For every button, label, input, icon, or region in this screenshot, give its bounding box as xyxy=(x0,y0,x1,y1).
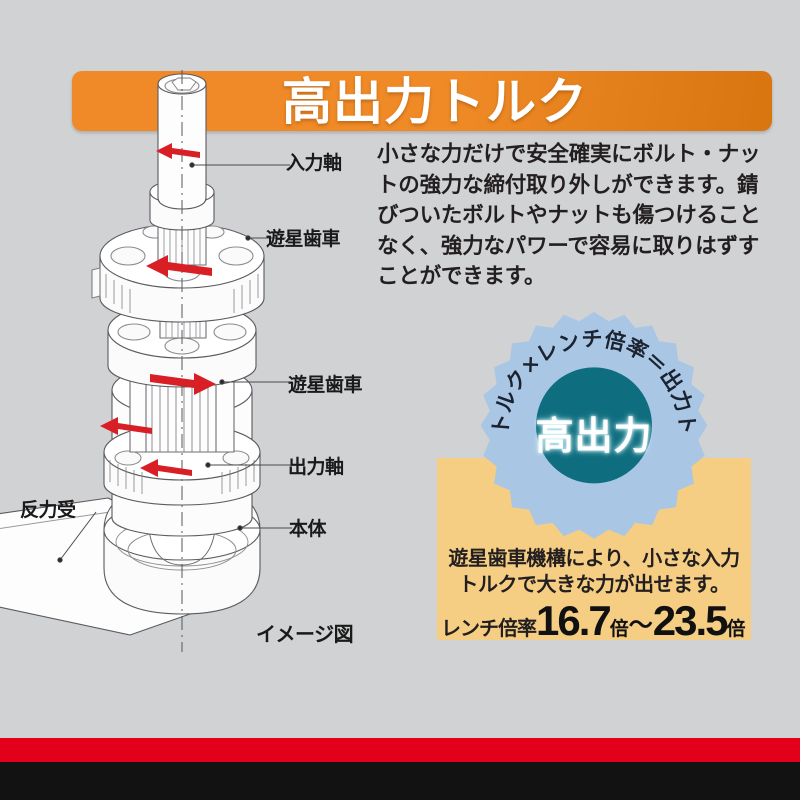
ratio-max-suffix: 倍 xyxy=(727,619,746,641)
label-planetary-gear-1: 遊星歯車 xyxy=(266,224,340,251)
ratio-min-value: 16.7 xyxy=(536,601,610,641)
ratio-max-value: 23.5 xyxy=(653,601,727,641)
gear-badge: 入力トルク×レンチ倍率＝出力トルク 高出力 xyxy=(470,308,718,556)
description-paragraph: 小さな力だけで安全確実にボルト・ナットの強力な締付取り外しができます。錆びついた… xyxy=(377,140,771,293)
ratio-panel-text: 遊星歯車機構により、小さな入力 トルクで大きな力が出せます。 xyxy=(441,545,747,597)
ratio-panel-line2: トルクで大きな力が出せます。 xyxy=(441,571,747,597)
bottom-black-bar xyxy=(0,762,800,800)
label-reaction-arm: 反力受 xyxy=(20,495,76,522)
page-root: 高出力トルク 小さな力だけで安全確実にボルト・ナットの強力な締付取り外しができま… xyxy=(0,0,800,800)
ratio-min-suffix: 倍 xyxy=(610,619,629,641)
label-body: 本体 xyxy=(289,514,326,541)
ratio-range-tilde: 〜 xyxy=(629,613,653,641)
diagram-caption: イメージ図 xyxy=(256,618,353,647)
gear-hub xyxy=(536,367,652,483)
ratio-row: レンチ倍率 16.7 倍 〜 23.5 倍 xyxy=(441,597,747,641)
label-output-shaft: 出力軸 xyxy=(288,452,344,479)
ratio-panel-line1: 遊星歯車機構により、小さな入力 xyxy=(441,545,747,571)
bottom-red-bar xyxy=(0,738,800,762)
label-planetary-gear-2: 遊星歯車 xyxy=(288,370,362,397)
description-text: 小さな力だけで安全確実にボルト・ナットの強力な締付取り外しができます。錆びついた… xyxy=(377,140,771,293)
label-input-shaft: 入力軸 xyxy=(286,148,342,175)
ratio-label: レンチ倍率 xyxy=(441,618,536,641)
